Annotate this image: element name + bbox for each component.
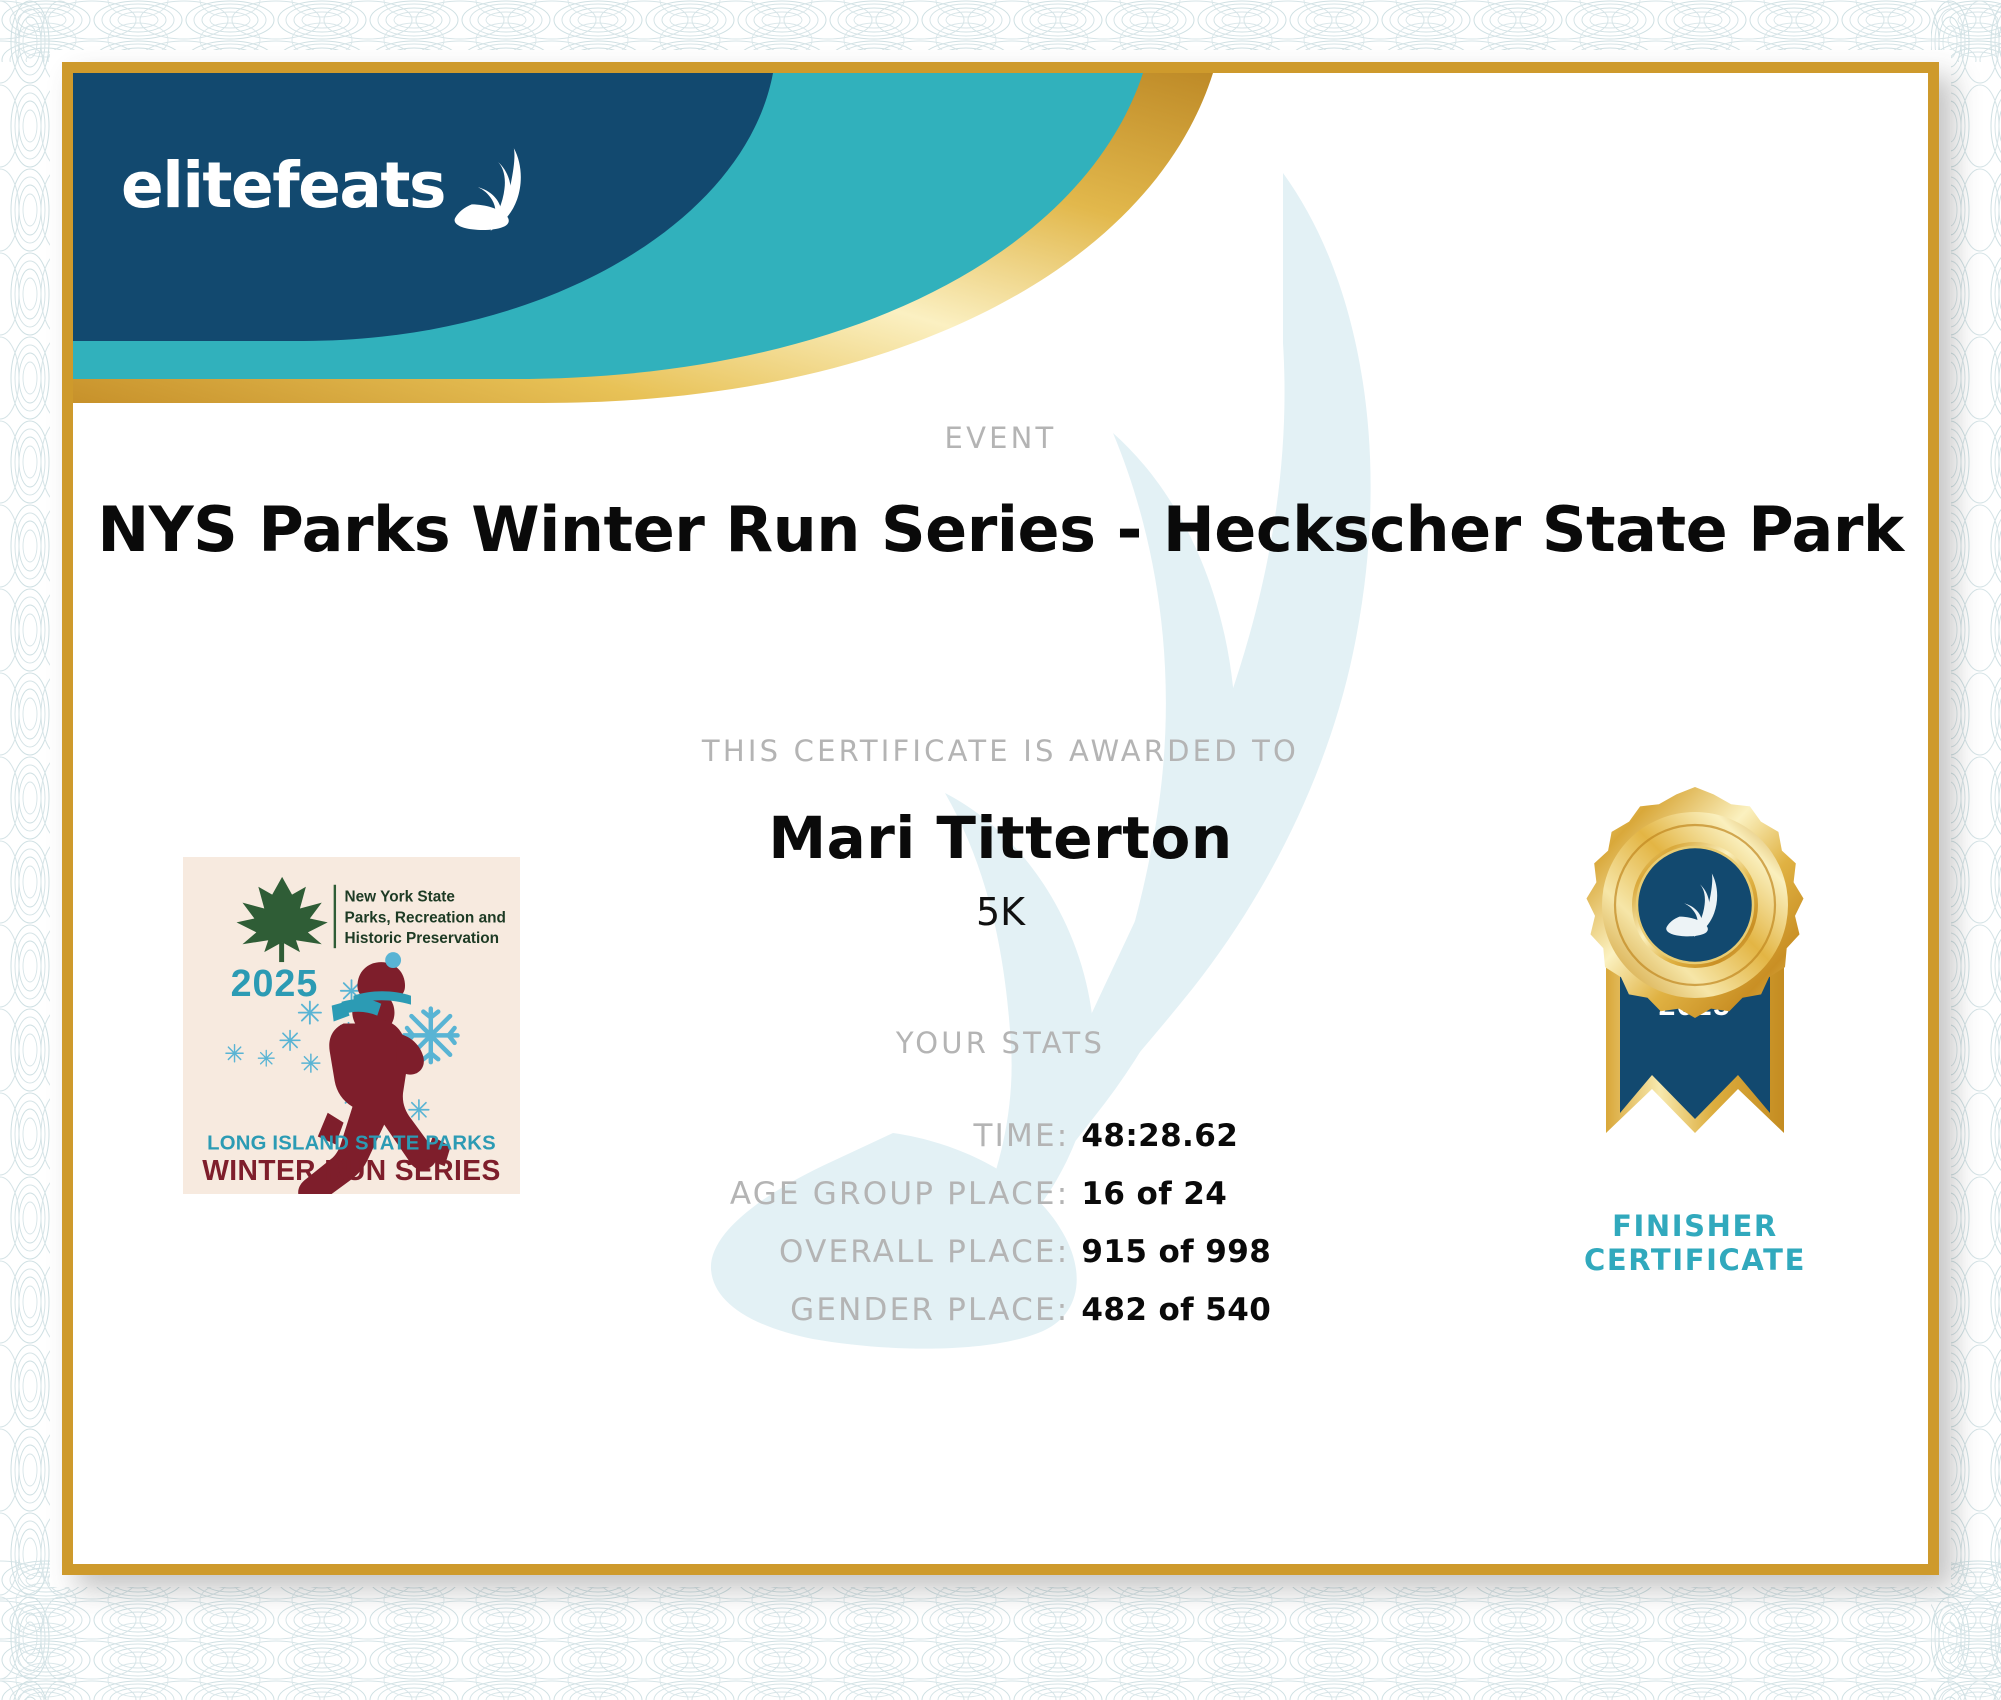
series-line-2: WINTER RUN SERIES	[202, 1154, 501, 1186]
event-label: EVENT	[73, 421, 1928, 455]
table-row: TIME: 48:28.62	[730, 1118, 1271, 1176]
stat-value-overall-place: 915 of 998	[1081, 1234, 1271, 1292]
certificate-sheet: elitefeats EVENT NYS Parks Winter Run Se…	[73, 73, 1928, 1564]
awarded-to-label: THIS CERTIFICATE IS AWARDED TO	[73, 734, 1928, 768]
stat-value-age-group-place: 16 of 24	[1081, 1176, 1271, 1234]
elitefeats-logo-text: elitefeats	[121, 154, 445, 217]
badge-caption-line-2: CERTIFICATE	[1540, 1243, 1850, 1277]
event-logo-year: 2025	[231, 962, 319, 1004]
table-row: AGE GROUP PLACE: 16 of 24	[730, 1176, 1271, 1234]
stat-label-age-group-place: AGE GROUP PLACE:	[730, 1176, 1082, 1234]
header-brand-band	[73, 73, 1213, 403]
event-title: NYS Parks Winter Run Series - Heckscher …	[73, 493, 1928, 566]
stats-table: TIME: 48:28.62 AGE GROUP PLACE: 16 of 24…	[730, 1118, 1271, 1350]
series-line-1: LONG ISLAND STATE PARKS	[207, 1132, 496, 1154]
table-row: OVERALL PLACE: 915 of 998	[730, 1234, 1271, 1292]
certificate-page: elitefeats EVENT NYS Parks Winter Run Se…	[0, 0, 2001, 1700]
badge-caption: FINISHER CERTIFICATE	[1540, 1209, 1850, 1277]
stat-label-gender-place: GENDER PLACE:	[730, 1292, 1082, 1350]
stat-label-time: TIME:	[730, 1118, 1082, 1176]
table-row: GENDER PLACE: 482 of 540	[730, 1292, 1271, 1350]
certificate-frame: elitefeats EVENT NYS Parks Winter Run Se…	[62, 62, 1939, 1575]
agency-line-2: Parks, Recreation and	[345, 909, 506, 926]
stat-value-gender-place: 482 of 540	[1081, 1292, 1271, 1350]
elitefeats-logo: elitefeats	[121, 139, 531, 231]
stat-label-overall-place: OVERALL PLACE:	[730, 1234, 1082, 1292]
agency-line-3: Historic Preservation	[345, 930, 500, 947]
stat-value-time: 48:28.62	[1081, 1118, 1271, 1176]
agency-line-1: New York State	[345, 889, 456, 906]
event-series-logo: New York State Parks, Recreation and His…	[183, 857, 520, 1194]
finisher-badge: 2025	[1540, 783, 1850, 1277]
winged-foot-icon	[453, 145, 531, 231]
badge-caption-line-1: FINISHER	[1540, 1209, 1850, 1243]
